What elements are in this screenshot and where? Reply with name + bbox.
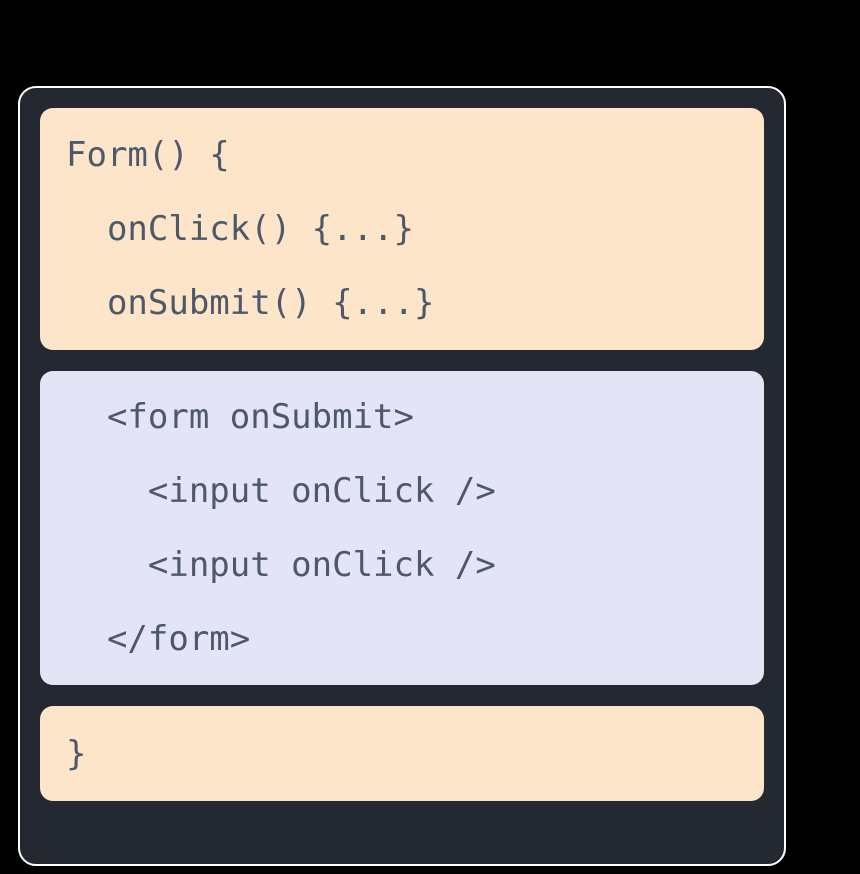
code-card-jsx-markup: <form onSubmit> <input onClick /> <input… <box>40 371 764 685</box>
page-root: Form() { onClick() {...} onSubmit() {...… <box>0 0 860 874</box>
code-line: </form> <box>66 602 738 676</box>
code-card-component-function-header: Form() { onClick() {...} onSubmit() {...… <box>40 108 764 350</box>
code-card-component-function-footer: } <box>40 706 764 801</box>
code-line: <input onClick /> <box>66 454 738 528</box>
code-line: Form() { <box>66 118 738 192</box>
code-line: <form onSubmit> <box>66 380 738 454</box>
code-panel: Form() { onClick() {...} onSubmit() {...… <box>18 86 786 866</box>
code-line: <input onClick /> <box>66 528 738 602</box>
code-line: onClick() {...} <box>66 192 738 266</box>
code-line: onSubmit() {...} <box>66 266 738 340</box>
code-line: } <box>66 717 738 791</box>
